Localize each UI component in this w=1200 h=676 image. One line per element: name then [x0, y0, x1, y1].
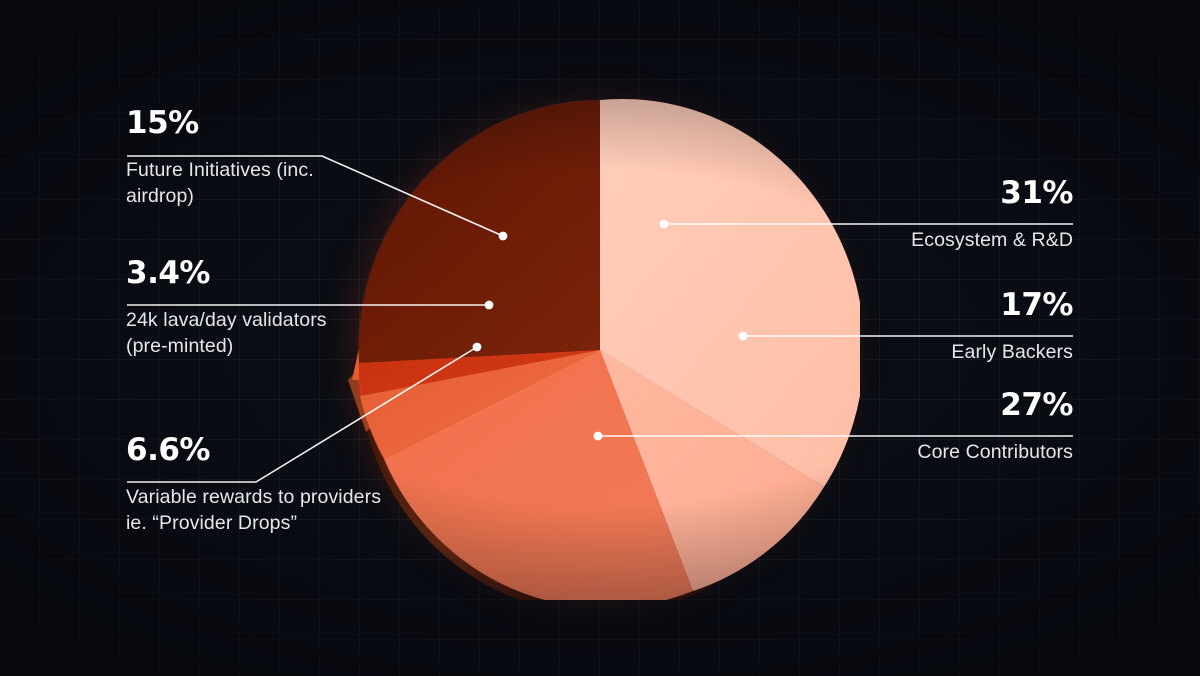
callout-validators-percent: 3.4% — [126, 258, 386, 289]
callout-provider-description: Variable rewards to providers ie. “Provi… — [126, 485, 446, 536]
callout-core-contributors: 27% Core Contributors — [793, 390, 1073, 466]
callout-ecosystem-percent: 31% — [793, 178, 1073, 209]
callout-validators: 3.4% 24k lava/day validators (pre-minted… — [126, 258, 386, 359]
callout-future-description: Future Initiatives (inc. airdrop) — [126, 158, 376, 209]
callout-ecosystem: 31% Ecosystem & R&D — [793, 178, 1073, 254]
slice-future-initiatives — [359, 100, 600, 363]
callout-core-description: Core Contributors — [793, 440, 1073, 466]
callout-future-percent: 15% — [126, 108, 376, 139]
callout-early-backers: 17% Early Backers — [793, 290, 1073, 366]
callout-ecosystem-description: Ecosystem & R&D — [793, 228, 1073, 254]
callout-provider-drops: 6.6% Variable rewards to providers ie. “… — [126, 435, 446, 536]
callout-future-initiatives: 15% Future Initiatives (inc. airdrop) — [126, 108, 376, 209]
callout-early-backers-description: Early Backers — [793, 340, 1073, 366]
callout-core-percent: 27% — [793, 390, 1073, 421]
callout-early-backers-percent: 17% — [793, 290, 1073, 321]
infographic-canvas: 15% Future Initiatives (inc. airdrop) 3.… — [0, 0, 1200, 676]
callout-validators-description: 24k lava/day validators (pre-minted) — [126, 308, 386, 359]
callout-provider-percent: 6.6% — [126, 435, 446, 466]
